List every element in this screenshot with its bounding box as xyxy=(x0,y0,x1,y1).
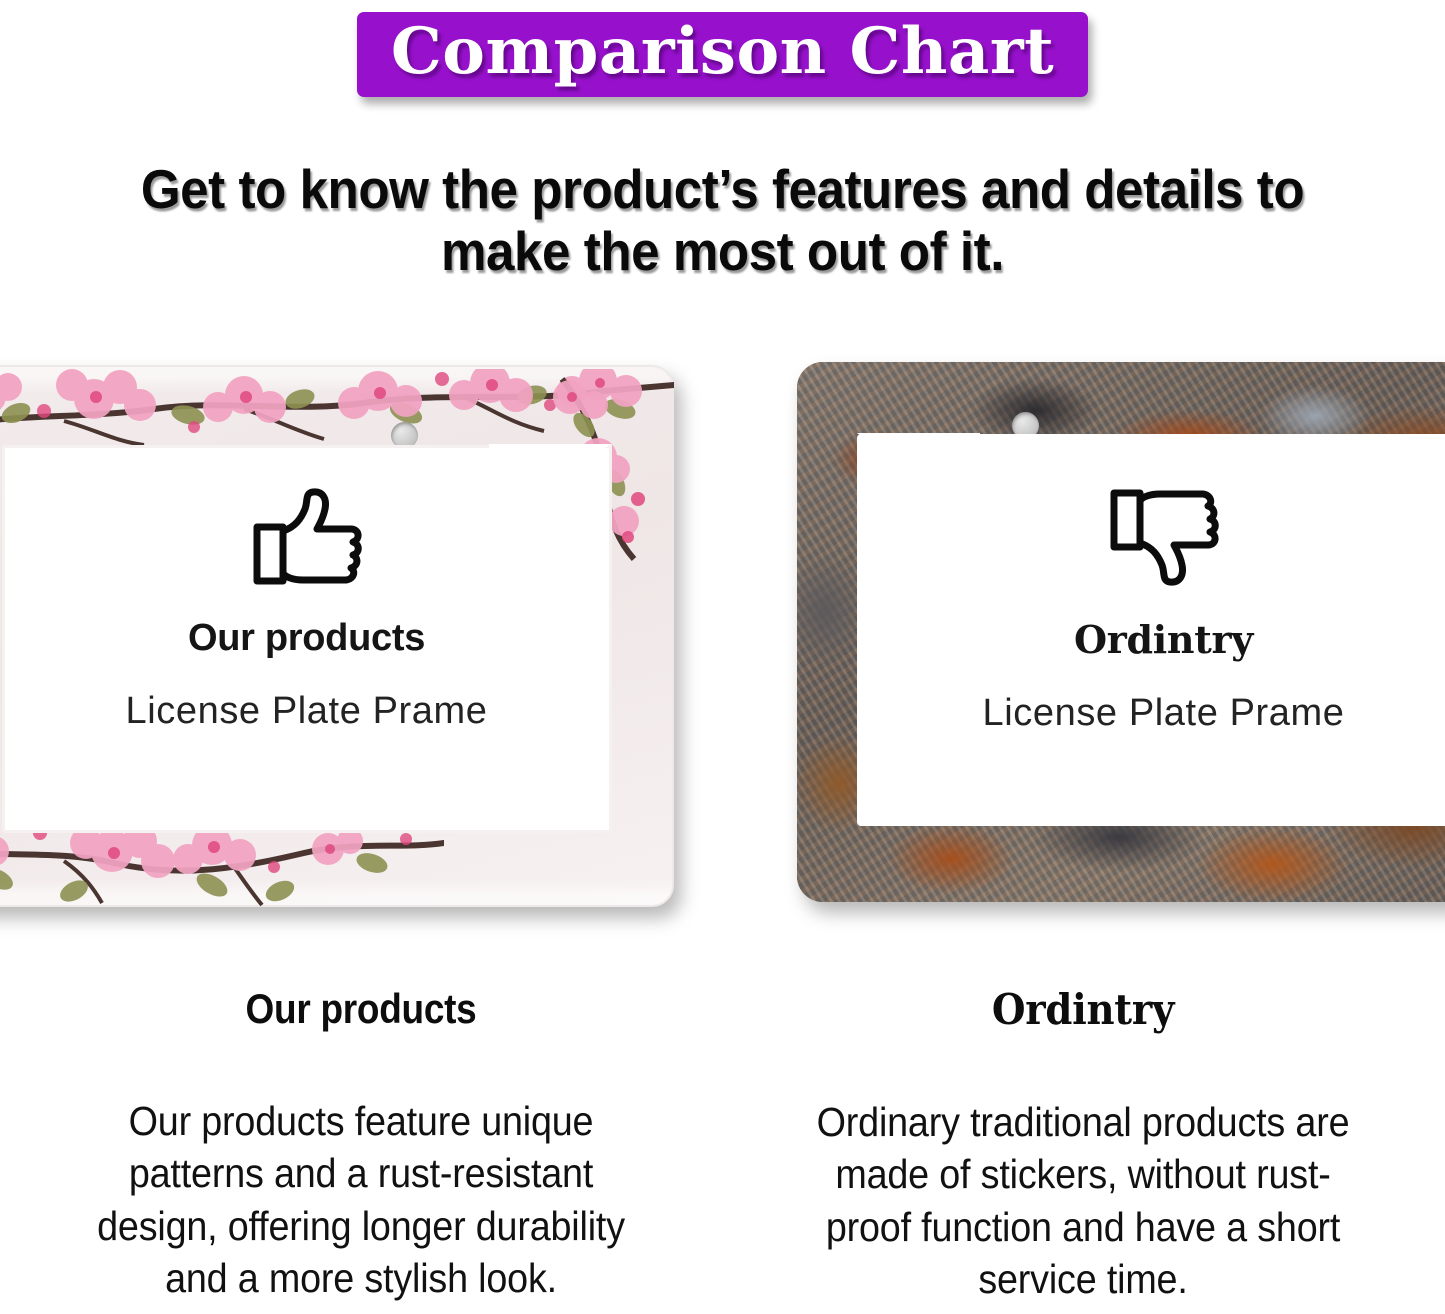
ordinary-product-frame-subheading: License Plate Prame xyxy=(857,692,1445,735)
comparison-columns: Our products Our products feature unique… xyxy=(0,985,1445,1306)
our-product-frame-subheading: License Plate Prame xyxy=(0,690,613,733)
thumbs-down-icon xyxy=(1104,485,1224,589)
our-product-column: Our products Our products feature unique… xyxy=(0,985,722,1306)
our-product-column-title: Our products xyxy=(84,985,638,1033)
our-product-column-body: Our products feature unique patterns and… xyxy=(71,1095,651,1305)
thumbs-up-icon xyxy=(247,485,367,589)
cherry-blossom-pattern-top xyxy=(0,369,674,455)
ordinary-product-column: Ordintry Ordinary traditional products a… xyxy=(722,985,1444,1306)
our-product-frame-heading: Our products xyxy=(0,617,613,660)
ordinary-product-column-body: Ordinary traditional products are made o… xyxy=(793,1096,1373,1306)
ordinary-product-column-title: Ordintry xyxy=(793,985,1373,1034)
ordinary-product-frame-content: Ordintry License Plate Prame xyxy=(857,485,1445,735)
ordinary-product-frame-heading: Ordintry xyxy=(857,617,1445,662)
our-product-frame-content: Our products License Plate Prame xyxy=(0,485,613,733)
